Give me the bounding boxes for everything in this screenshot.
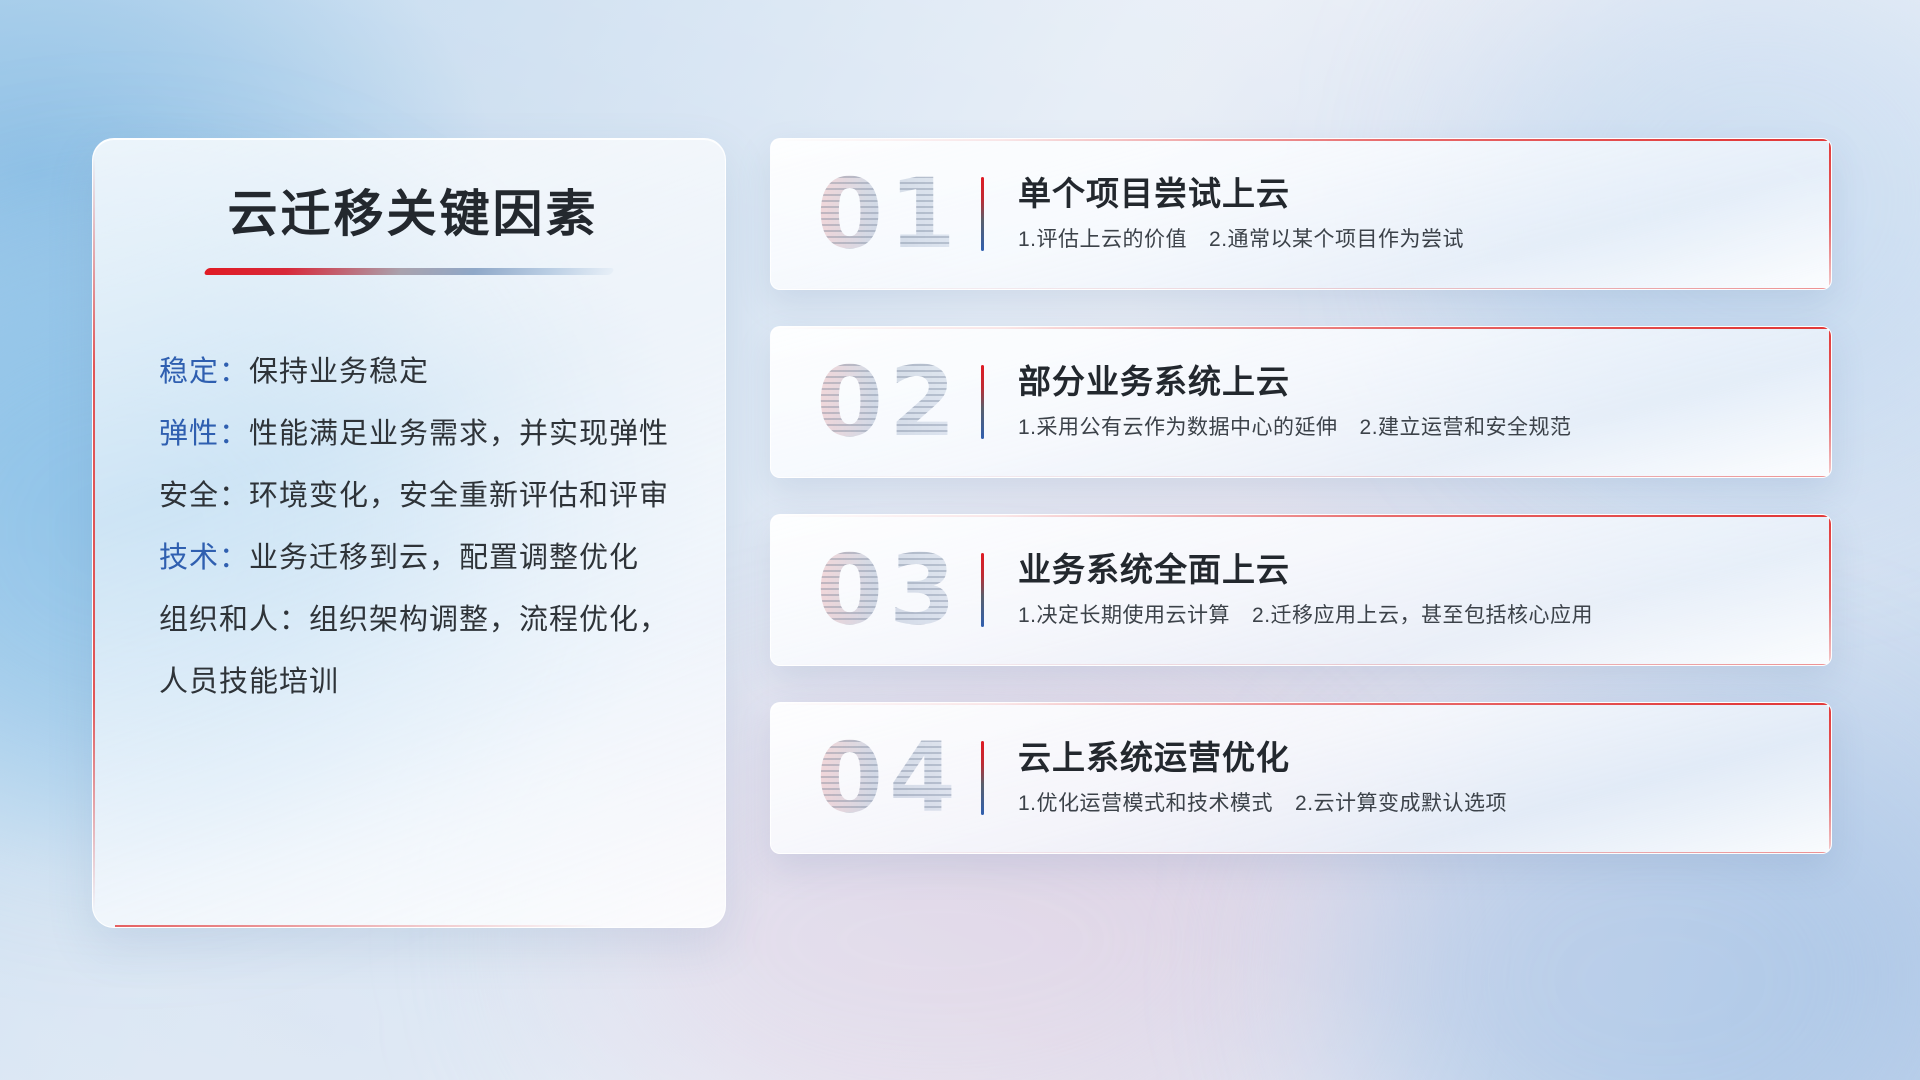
card-right-accent [1829,703,1831,853]
migration-steps-list: 01 单个项目尝试上云 1.评估上云的价值2.通常以某个项目作为尝试 02 [770,138,1832,854]
panel-bottom-accent-bar [115,925,605,927]
step-divider-bar [981,177,984,251]
factor-value: 组织架构调整，流程优化， [309,604,669,636]
step-point-2: 2.迁移应用上云，甚至包括核心应用 [1252,604,1593,627]
step-title: 单个项目尝试上云 [1018,174,1805,214]
step-title: 云上系统运营优化 [1018,738,1805,778]
step-number-text: 01 [816,166,962,262]
slide-canvas: 云迁移关键因素 稳定：保持业务稳定 弹性：性能满足业务需求，并实现弹性 安全：环… [0,0,1920,1080]
factor-label: 组织和人： [159,604,309,636]
title-underline-gradient [203,268,614,275]
step-description: 1.评估上云的价值2.通常以某个项目作为尝试 [1018,226,1805,253]
step-title: 部分业务系统上云 [1018,362,1805,402]
card-right-accent [1829,139,1831,289]
step-title: 业务系统全面上云 [1018,550,1805,590]
card-right-accent [1829,515,1831,665]
step-number-text: 03 [816,542,962,638]
factor-value: 业务迁移到云，配置调整优化 [249,542,639,574]
step-divider-bar [981,365,984,439]
step-number-graphic: 04 [771,703,981,853]
step-text-block: 业务系统全面上云 1.决定长期使用云计算2.迁移应用上云，甚至包括核心应用 [1018,550,1831,630]
list-item: 安全：环境变化，安全重新评估和评审 [159,465,671,527]
step-point-2: 2.云计算变成默认选项 [1295,792,1507,815]
step-divider-bar [981,741,984,815]
factor-value: 环境变化，安全重新评估和评审 [249,480,669,512]
slide-content: 云迁移关键因素 稳定：保持业务稳定 弹性：性能满足业务需求，并实现弹性 安全：环… [0,0,1920,1080]
step-number-text: 04 [816,730,962,826]
step-text-block: 单个项目尝试上云 1.评估上云的价值2.通常以某个项目作为尝试 [1018,174,1831,254]
list-item: 组织和人：组织架构调整，流程优化， [159,589,671,651]
step-point-1: 1.优化运营模式和技术模式 [1018,792,1273,815]
step-point-2: 2.通常以某个项目作为尝试 [1209,228,1464,251]
factor-label: 弹性： [159,418,249,450]
key-factors-list: 稳定：保持业务稳定 弹性：性能满足业务需求，并实现弹性 安全：环境变化，安全重新… [147,341,671,713]
step-divider-bar [981,553,984,627]
card-right-accent [1829,327,1831,477]
step-description: 1.采用公有云作为数据中心的延伸2.建立运营和安全规范 [1018,414,1805,441]
key-factors-panel: 云迁移关键因素 稳定：保持业务稳定 弹性：性能满足业务需求，并实现弹性 安全：环… [92,138,726,928]
list-item: 人员技能培训 [159,651,671,713]
factor-value: 人员技能培训 [159,666,339,698]
step-number-graphic: 02 [771,327,981,477]
step-card-04[interactable]: 04 云上系统运营优化 1.优化运营模式和技术模式2.云计算变成默认选项 [770,702,1832,854]
page-title: 云迁移关键因素 [147,187,671,242]
step-card-02[interactable]: 02 部分业务系统上云 1.采用公有云作为数据中心的延伸2.建立运营和安全规范 [770,326,1832,478]
step-text-block: 部分业务系统上云 1.采用公有云作为数据中心的延伸2.建立运营和安全规范 [1018,362,1831,442]
step-number-text: 02 [816,354,962,450]
step-description: 1.决定长期使用云计算2.迁移应用上云，甚至包括核心应用 [1018,602,1805,629]
step-point-1: 1.决定长期使用云计算 [1018,604,1230,627]
factor-label: 稳定： [159,356,249,388]
list-item: 技术：业务迁移到云，配置调整优化 [159,527,671,589]
step-description: 1.优化运营模式和技术模式2.云计算变成默认选项 [1018,790,1805,817]
step-point-1: 1.评估上云的价值 [1018,228,1187,251]
factor-label: 安全： [159,480,249,512]
step-card-01[interactable]: 01 单个项目尝试上云 1.评估上云的价值2.通常以某个项目作为尝试 [770,138,1832,290]
step-number-graphic: 01 [771,139,981,289]
step-point-1: 1.采用公有云作为数据中心的延伸 [1018,416,1338,439]
step-point-2: 2.建立运营和安全规范 [1360,416,1572,439]
step-text-block: 云上系统运营优化 1.优化运营模式和技术模式2.云计算变成默认选项 [1018,738,1831,818]
step-card-03[interactable]: 03 业务系统全面上云 1.决定长期使用云计算2.迁移应用上云，甚至包括核心应用 [770,514,1832,666]
factor-label: 技术： [159,542,249,574]
list-item: 弹性：性能满足业务需求，并实现弹性 [159,403,671,465]
list-item: 稳定：保持业务稳定 [159,341,671,403]
factor-value: 保持业务稳定 [249,356,429,388]
factor-value: 性能满足业务需求，并实现弹性 [249,418,669,450]
step-number-graphic: 03 [771,515,981,665]
